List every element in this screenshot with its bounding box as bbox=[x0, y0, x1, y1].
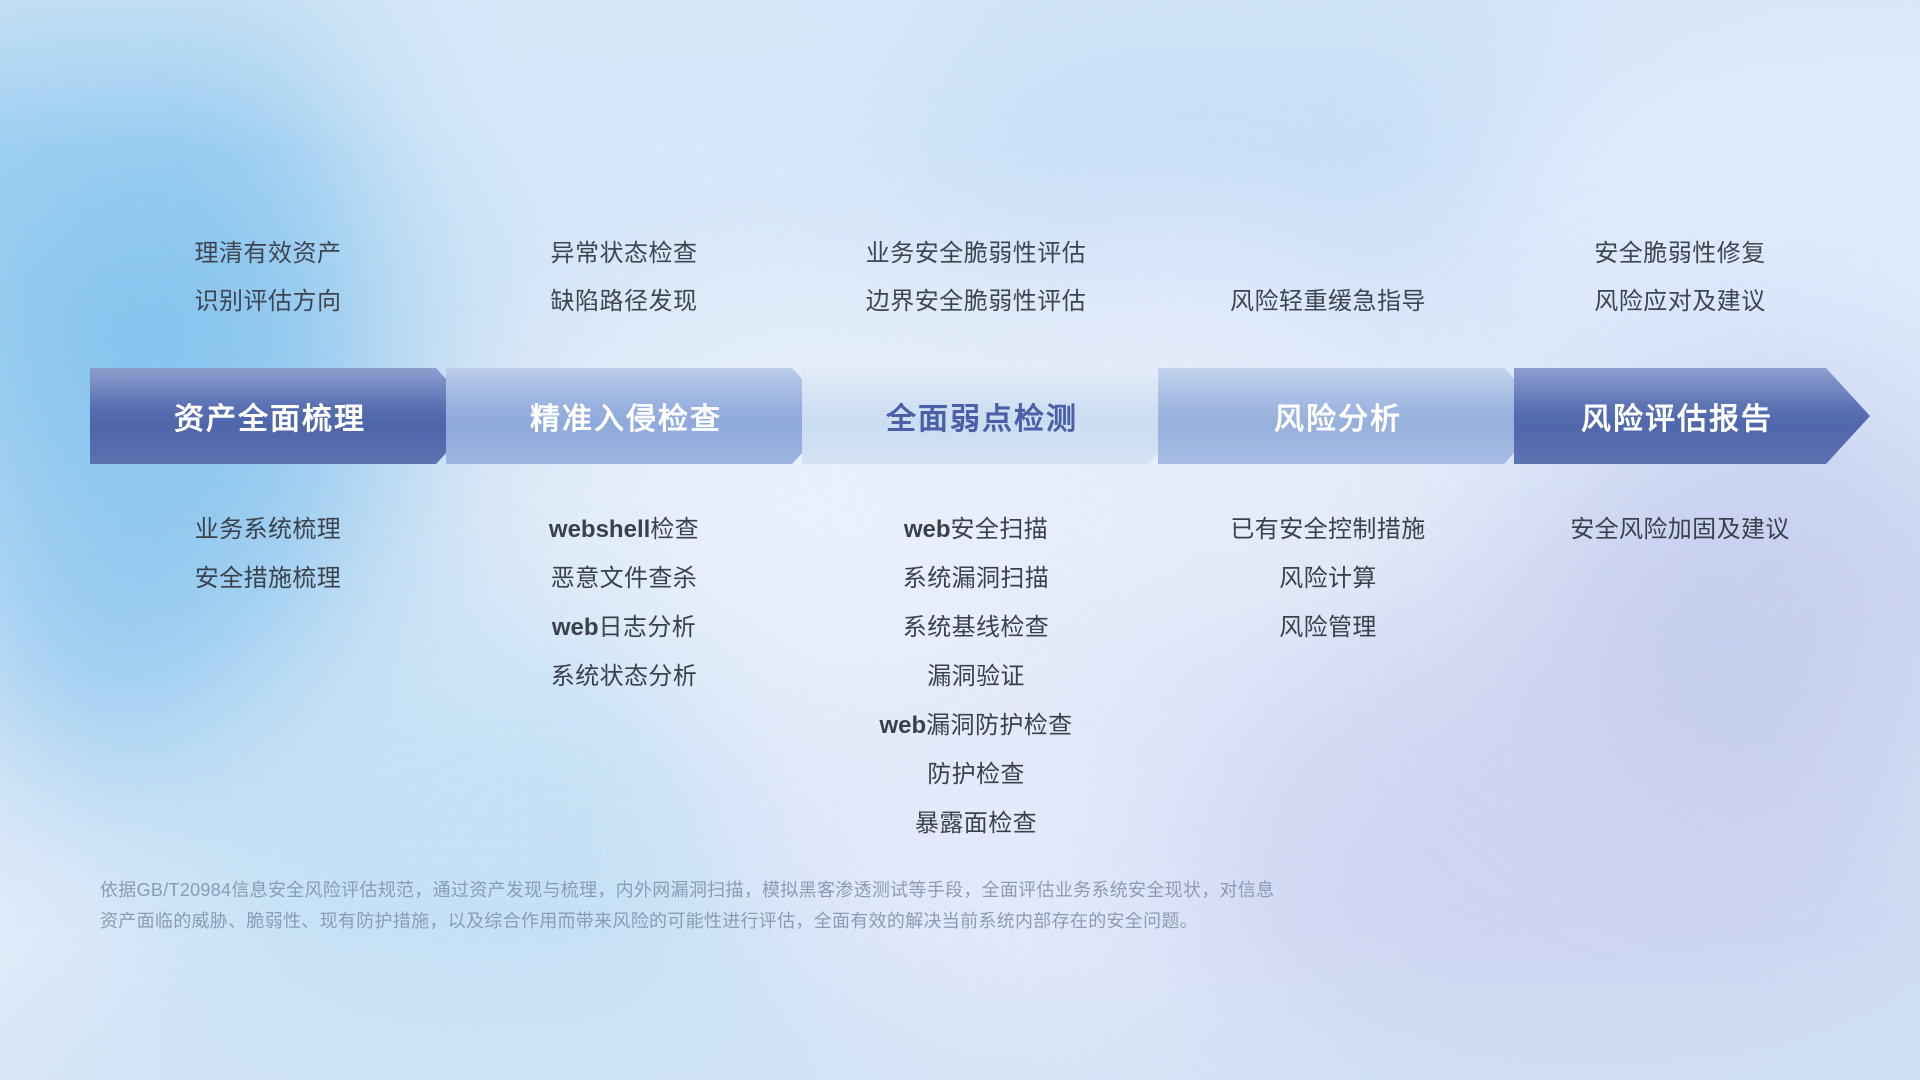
top-description-line: 理清有效资产 bbox=[195, 230, 342, 278]
top-description-line: 缺陷路径发现 bbox=[551, 278, 698, 326]
list-item: 恶意文件查杀 bbox=[551, 554, 697, 603]
list-item-label: 漏洞防护检查 bbox=[926, 712, 1072, 739]
list-item-prefix: web bbox=[552, 614, 599, 641]
top-descriptions-risk-analysis: 风险轻重缓急指导 bbox=[1152, 230, 1504, 326]
list-item-label: 安全扫描 bbox=[951, 516, 1049, 543]
list-item-label: 风险计算 bbox=[1279, 565, 1377, 592]
bottom-items-risk-analysis: 已有安全控制措施 风险计算 风险管理 bbox=[1152, 505, 1504, 848]
list-item: 系统基线检查 bbox=[903, 603, 1049, 652]
list-item: web漏洞防护检查 bbox=[879, 701, 1072, 750]
stage-label: 资产全面梳理 bbox=[174, 394, 396, 438]
list-item-label: 风险管理 bbox=[1279, 614, 1377, 641]
process-diagram: 理清有效资产 识别评估方向 异常状态检查 缺陷路径发现 业务安全脆弱性评估 边界… bbox=[0, 0, 1920, 1080]
list-item-label: 防护检查 bbox=[927, 761, 1025, 788]
list-item-label: 漏洞验证 bbox=[927, 663, 1025, 690]
list-item: 安全风险加固及建议 bbox=[1570, 505, 1790, 554]
top-description-line: 风险应对及建议 bbox=[1594, 278, 1766, 326]
list-item-label: 暴露面检查 bbox=[915, 810, 1037, 837]
list-item-prefix: web bbox=[879, 712, 926, 739]
list-item: web安全扫描 bbox=[904, 505, 1048, 554]
stage-label: 风险分析 bbox=[1274, 394, 1432, 438]
list-item: 系统状态分析 bbox=[551, 652, 697, 701]
stage-chevron-intrusion-check[interactable]: 精准入侵检查 bbox=[446, 368, 836, 464]
footer-line: 依据GB/T20984信息安全风险评估规范，通过资产发现与梳理，内外网漏洞扫描，… bbox=[100, 875, 1660, 906]
list-item: 已有安全控制措施 bbox=[1230, 505, 1425, 554]
footer-description: 依据GB/T20984信息安全风险评估规范，通过资产发现与梳理，内外网漏洞扫描，… bbox=[100, 875, 1660, 937]
stage-chevron-weakness-detection[interactable]: 全面弱点检测 bbox=[802, 368, 1192, 464]
top-description-line: 边界安全脆弱性评估 bbox=[866, 278, 1087, 326]
bottom-items-weakness-detection: web安全扫描 系统漏洞扫描 系统基线检查 漏洞验证 web漏洞防护检查 防护检… bbox=[800, 505, 1152, 848]
list-item: 防护检查 bbox=[927, 750, 1025, 799]
list-item: 风险计算 bbox=[1279, 554, 1377, 603]
top-descriptions-risk-report: 安全脆弱性修复 风险应对及建议 bbox=[1504, 230, 1856, 326]
top-descriptions-asset-inventory: 理清有效资产 识别评估方向 bbox=[92, 230, 444, 326]
stage-chevron-asset-inventory[interactable]: 资产全面梳理 bbox=[90, 368, 480, 464]
bottom-items-asset-inventory: 业务系统梳理 安全措施梳理 bbox=[92, 505, 444, 848]
stage-chevron-risk-report[interactable]: 风险评估报告 bbox=[1514, 368, 1870, 464]
list-item: 暴露面检查 bbox=[915, 799, 1037, 848]
list-item: 业务系统梳理 bbox=[195, 505, 341, 554]
bottom-items-intrusion-check: webshell检查 恶意文件查杀 web日志分析 系统状态分析 bbox=[448, 505, 800, 848]
top-description-line: 安全脆弱性修复 bbox=[1594, 230, 1766, 278]
stage-chevron-risk-analysis[interactable]: 风险分析 bbox=[1158, 368, 1548, 464]
list-item-label: 系统漏洞扫描 bbox=[903, 565, 1049, 592]
list-item-label: 系统基线检查 bbox=[903, 614, 1049, 641]
stage-label: 精准入侵检查 bbox=[530, 394, 752, 438]
list-item-label: 系统状态分析 bbox=[551, 663, 697, 690]
list-item-label: 恶意文件查杀 bbox=[551, 565, 697, 592]
stage-label: 风险评估报告 bbox=[1581, 394, 1803, 438]
stage-ribbon: 资产全面梳理 精准入侵检查 全面弱点检测 风险分析 风险评估报告 bbox=[90, 368, 1870, 464]
list-item-prefix: web bbox=[904, 516, 951, 543]
list-item-label: 检查 bbox=[650, 516, 699, 543]
list-item-label: 安全风险加固及建议 bbox=[1570, 516, 1790, 543]
top-description-line: 异常状态检查 bbox=[551, 230, 698, 278]
top-descriptions-row: 理清有效资产 识别评估方向 异常状态检查 缺陷路径发现 业务安全脆弱性评估 边界… bbox=[96, 230, 1856, 326]
list-item: web日志分析 bbox=[552, 603, 696, 652]
top-description-line: 业务安全脆弱性评估 bbox=[866, 230, 1087, 278]
list-item: 风险管理 bbox=[1279, 603, 1377, 652]
top-descriptions-intrusion-check: 异常状态检查 缺陷路径发现 bbox=[448, 230, 800, 326]
list-item-label: 日志分析 bbox=[599, 614, 697, 641]
list-item: 系统漏洞扫描 bbox=[903, 554, 1049, 603]
list-item: 安全措施梳理 bbox=[195, 554, 341, 603]
list-item-label: 安全措施梳理 bbox=[195, 565, 341, 592]
stage-label: 全面弱点检测 bbox=[886, 394, 1108, 438]
list-item: webshell检查 bbox=[549, 505, 699, 554]
list-item: 漏洞验证 bbox=[927, 652, 1025, 701]
top-descriptions-weakness-detection: 业务安全脆弱性评估 边界安全脆弱性评估 bbox=[800, 230, 1152, 326]
top-description-line: 风险轻重缓急指导 bbox=[1230, 278, 1426, 326]
bottom-items-risk-report: 安全风险加固及建议 bbox=[1504, 505, 1856, 848]
footer-line: 资产面临的威胁、脆弱性、现有防护措施，以及综合作用而带来风险的可能性进行评估，全… bbox=[100, 906, 1660, 937]
list-item-label: 已有安全控制措施 bbox=[1230, 516, 1425, 543]
top-description-line: 识别评估方向 bbox=[195, 278, 342, 326]
bottom-items-row: 业务系统梳理 安全措施梳理 webshell检查 恶意文件查杀 web日志分析 … bbox=[96, 505, 1856, 848]
list-item-prefix: webshell bbox=[549, 516, 650, 543]
list-item-label: 业务系统梳理 bbox=[195, 516, 341, 543]
